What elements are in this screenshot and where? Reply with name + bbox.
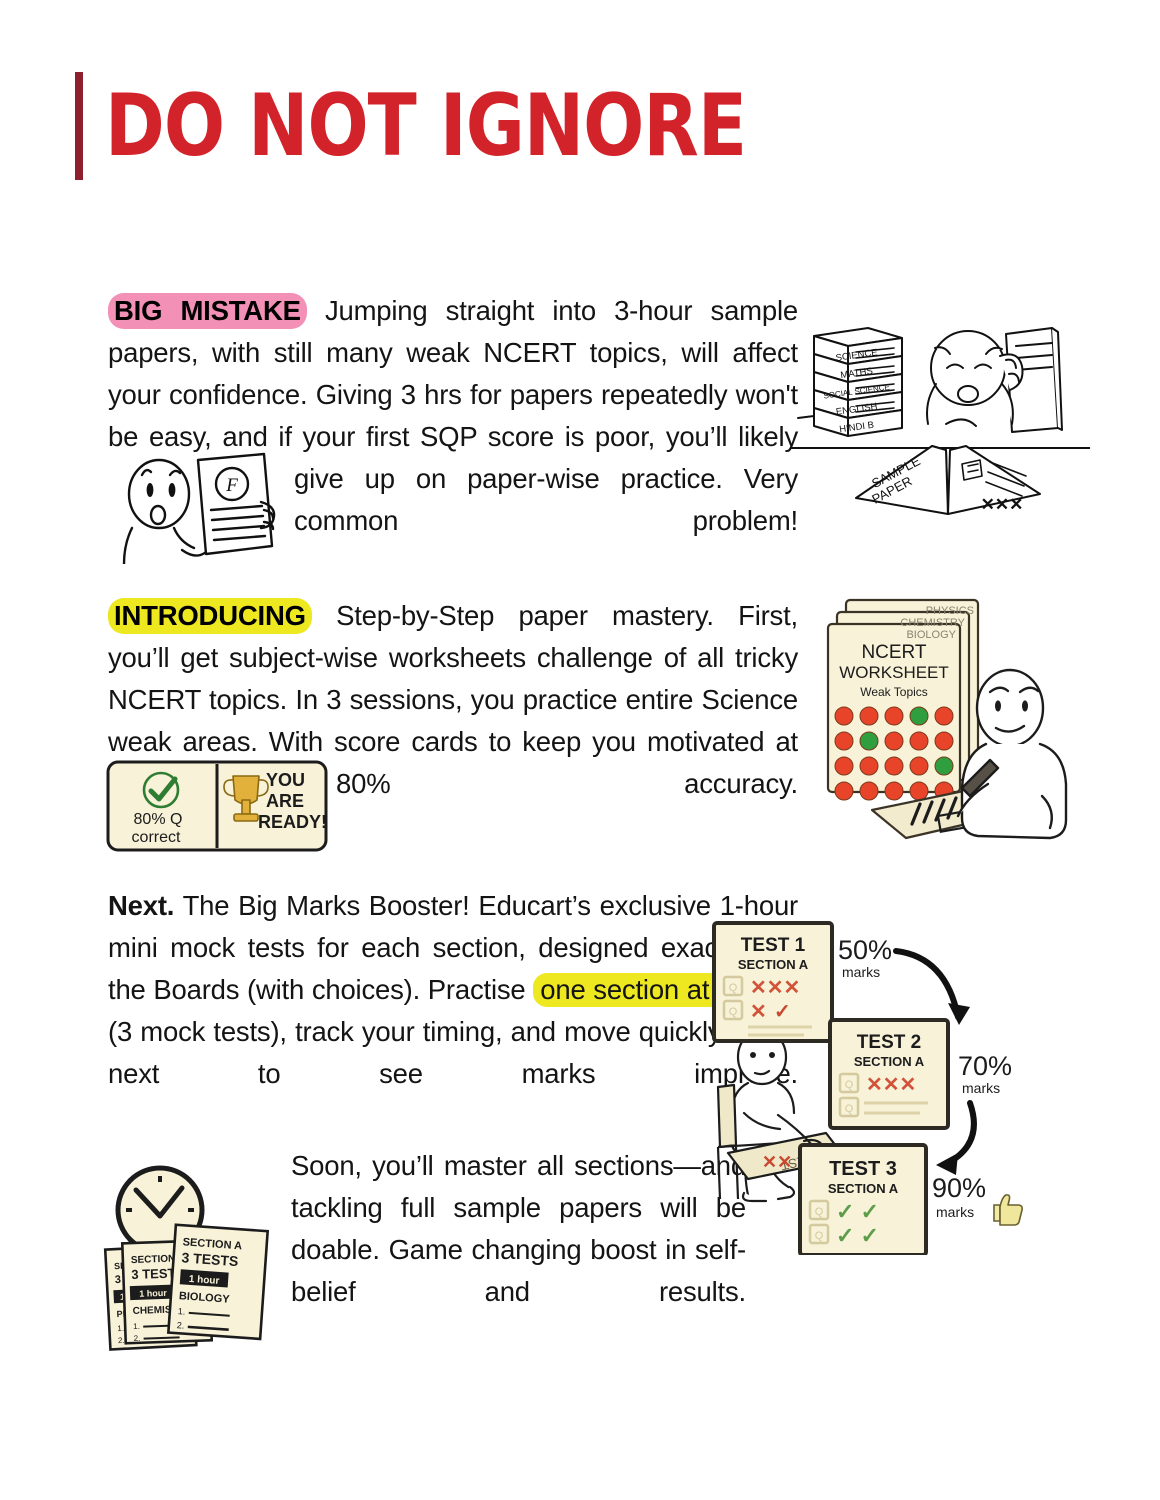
svg-text:Q: Q — [815, 1230, 824, 1242]
test-card-2-row1: ✕✕✕ — [866, 1074, 916, 1096]
test-score-2-unit: marks — [962, 1080, 1000, 1096]
test-card-2: TEST 2 SECTION A Q ✕✕✕ Q — [830, 1020, 948, 1128]
test-card-2-title: TEST 2 — [857, 1032, 921, 1053]
test-card-3-row1: ✓ ✓ — [836, 1199, 879, 1224]
badge-right-line3: READY! — [258, 812, 327, 832]
test-card-3: TEST 3 SECTION A Q ✓ ✓ Q ✓ ✓ — [800, 1145, 926, 1255]
svg-text:✓: ✓ — [774, 1001, 791, 1023]
paragraph-3-text: Next. The Big Marks Booster! Educart’s e… — [108, 885, 798, 1137]
ncert-worksheet-illustration: PHYSICS CHEMISTRY BIOLOGY NCERT WORKSHEE… — [820, 588, 1110, 863]
svg-text:2.: 2. — [118, 1336, 125, 1345]
svg-text:Q: Q — [815, 1206, 824, 1218]
svg-text:1.: 1. — [178, 1306, 186, 1317]
paper-2-duration: 1 hour — [139, 1288, 167, 1299]
worksheet-title-line1: NCERT — [861, 642, 926, 663]
title-accent-bar — [75, 72, 83, 180]
paragraph-introducing: INTRODUCING Step-by-Step paper mastery. … — [108, 595, 798, 905]
test-card-2-section: SECTION A — [854, 1054, 925, 1069]
desk-paper-marks: ✕✕ — [762, 1152, 792, 1172]
test-card-3-section: SECTION A — [828, 1181, 899, 1196]
test-card-1-title: TEST 1 — [741, 935, 806, 956]
svg-text:1.: 1. — [133, 1322, 140, 1331]
worksheet-tab-physics: PHYSICS — [926, 605, 974, 617]
badge-right-line1: YOU — [266, 770, 305, 790]
svg-text:Q: Q — [729, 1006, 738, 1018]
test-card-1-row2: ✕ — [750, 1001, 767, 1023]
test-card-1-section: SECTION A — [738, 957, 809, 972]
svg-text:Q: Q — [729, 982, 738, 994]
test-card-3-row2: ✓ ✓ — [836, 1223, 879, 1248]
test-card-1-row1: ✕✕✕ — [750, 977, 800, 999]
badge-introducing: INTRODUCING — [108, 598, 312, 634]
svg-text:2.: 2. — [133, 1334, 140, 1343]
worksheet-tab-chemistry: CHEMISTRY — [900, 617, 965, 629]
page-header: DO NOT IGNORE — [75, 70, 794, 182]
thumbs-up-icon — [994, 1195, 1022, 1225]
sad-student-illustration: F — [112, 442, 292, 564]
paragraph-4-text: Soon, you’ll master all sections—and tac… — [291, 1145, 746, 1355]
test-score-3: 90% — [932, 1173, 986, 1203]
sample-paper-marks: ✕✕✕ — [981, 495, 1024, 514]
paragraph-3-body-after: (3 mock tests), track your timing, and m… — [108, 1016, 798, 1089]
badge-right-line2: ARE — [266, 791, 304, 811]
clock-and-papers-illustration: SECTION C 3 TESTS 1 hour PHYSICS 1. 2. S… — [102, 1152, 292, 1352]
books-and-stressed-student-illustration: SCIENCE MATHS SOCIAL SCIENCE ENGLISH HIN… — [790, 298, 1090, 523]
test-score-2: 70% — [958, 1051, 1012, 1081]
svg-text:2.: 2. — [177, 1320, 185, 1330]
test-score-1-unit: marks — [842, 964, 880, 980]
worksheet-tab-biology: BIOLOGY — [906, 629, 956, 641]
badge-big-mistake: BIG MISTAKE — [108, 293, 307, 329]
test-progress-flow-illustration: TEST ✕✕ TEST 1 SECTION A Q ✕✕✕ Q ✕ ✓ 50%… — [700, 915, 1120, 1255]
worksheet-subtitle: Weak Topics — [860, 685, 928, 699]
test-card-1: TEST 1 SECTION A Q ✕✕✕ Q ✕ ✓ — [714, 923, 832, 1041]
svg-text:Q: Q — [845, 1103, 854, 1115]
grade-letter: F — [225, 475, 238, 496]
score-card-badge-illustration: 80% Q correct YOU ARE READY! — [106, 760, 328, 852]
svg-text:1.: 1. — [117, 1324, 124, 1333]
paragraph-next: Next. The Big Marks Booster! Educart’s e… — [108, 885, 798, 1137]
svg-text:Q: Q — [845, 1079, 854, 1091]
paragraph-3-lead: Next. — [108, 890, 174, 921]
paper-1-duration: 1 hour — [188, 1274, 219, 1287]
page-title: DO NOT IGNORE — [105, 83, 746, 169]
test-card-3-title: TEST 3 — [829, 1158, 897, 1180]
badge-left-line2: correct — [132, 829, 181, 846]
badge-left-line1: 80% Q — [134, 811, 183, 828]
paragraph-2-text: INTRODUCING Step-by-Step paper mastery. … — [108, 595, 798, 905]
worksheet-title-line2: WORKSHEET — [839, 663, 949, 682]
paragraph-soon: Soon, you’ll master all sections—and tac… — [291, 1145, 746, 1355]
test-score-3-unit: marks — [936, 1204, 974, 1220]
test-score-1: 50% — [838, 935, 892, 965]
